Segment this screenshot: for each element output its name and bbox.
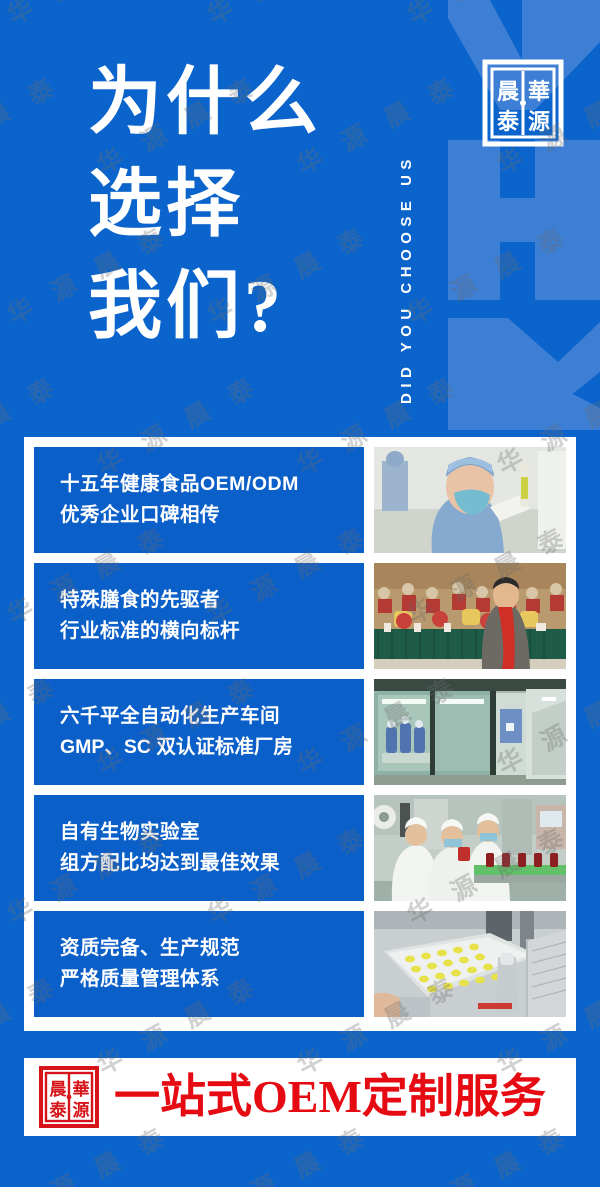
company-seal-white: 晨 華 泰 源 xyxy=(481,57,565,149)
feature-image-4 xyxy=(374,795,566,901)
svg-text:晨: 晨 xyxy=(50,1080,68,1099)
features-list: 十五年健康食品OEM/ODM 优秀企业口碑相传 xyxy=(34,447,566,1017)
feature-image-1 xyxy=(374,447,566,553)
hero-section: 为什么 选择 我们? DID YOU CHOOSE US 晨 華 泰 源 xyxy=(0,0,600,437)
feature-card-5[interactable]: 资质完备、生产规范 严格质量管理体系 xyxy=(34,911,364,1017)
cta-text: 一站式OEM定制服务 xyxy=(114,1072,546,1122)
feature-row[interactable]: 十五年健康食品OEM/ODM 优秀企业口碑相传 xyxy=(34,447,566,553)
feature-line-1: 六千平全自动化生产车间 xyxy=(60,701,364,732)
feature-line-1: 十五年健康食品OEM/ODM xyxy=(60,469,364,500)
svg-text:華: 華 xyxy=(528,79,550,104)
svg-text:源: 源 xyxy=(73,1100,90,1120)
feature-line-2: 行业标准的横向标杆 xyxy=(60,616,364,647)
feature-image-5 xyxy=(374,911,566,1017)
feature-card-4[interactable]: 自有生物实验室 组方配比均达到最佳效果 xyxy=(34,795,364,901)
page-title: 为什么 选择 我们? xyxy=(88,52,388,358)
svg-text:晨: 晨 xyxy=(497,79,520,104)
feature-row[interactable]: 特殊膳食的先驱者 行业标准的横向标杆 xyxy=(34,563,566,669)
title-line-3: 我们? xyxy=(88,256,388,358)
feature-line-2: GMP、SC 双认证标准厂房 xyxy=(60,732,364,763)
feature-row[interactable]: 六千平全自动化生产车间 GMP、SC 双认证标准厂房 xyxy=(34,679,566,785)
company-seal-red: 晨 華 泰 源 xyxy=(38,1064,100,1130)
feature-row[interactable]: 自有生物实验室 组方配比均达到最佳效果 xyxy=(34,795,566,901)
title-line-2: 选择 xyxy=(88,154,388,256)
bottom-cta-banner[interactable]: 晨 華 泰 源 一站式OEM定制服务 xyxy=(24,1058,576,1136)
features-panel: 十五年健康食品OEM/ODM 优秀企业口碑相传 xyxy=(24,437,576,1031)
feature-card-3[interactable]: 六千平全自动化生产车间 GMP、SC 双认证标准厂房 xyxy=(34,679,364,785)
feature-card-1[interactable]: 十五年健康食品OEM/ODM 优秀企业口碑相传 xyxy=(34,447,364,553)
poster-root: 为什么 选择 我们? DID YOU CHOOSE US 晨 華 泰 源 xyxy=(0,0,600,1187)
svg-text:華: 華 xyxy=(73,1080,90,1099)
feature-card-2[interactable]: 特殊膳食的先驱者 行业标准的横向标杆 xyxy=(34,563,364,669)
feature-line-1: 自有生物实验室 xyxy=(60,817,364,848)
feature-line-2: 优秀企业口碑相传 xyxy=(60,500,364,531)
svg-text:源: 源 xyxy=(528,109,550,134)
feature-line-2: 严格质量管理体系 xyxy=(60,964,364,995)
feature-line-1: 特殊膳食的先驱者 xyxy=(60,585,364,616)
svg-text:泰: 泰 xyxy=(50,1100,68,1120)
feature-image-2 xyxy=(374,563,566,669)
title-line-1: 为什么 xyxy=(88,52,388,154)
feature-image-3 xyxy=(374,679,566,785)
vertical-english-caption: DID YOU CHOOSE US xyxy=(398,14,428,404)
feature-line-2: 组方配比均达到最佳效果 xyxy=(60,848,364,879)
svg-text:泰: 泰 xyxy=(496,109,520,134)
feature-line-1: 资质完备、生产规范 xyxy=(60,933,364,964)
feature-row[interactable]: 资质完备、生产规范 严格质量管理体系 xyxy=(34,911,566,1017)
